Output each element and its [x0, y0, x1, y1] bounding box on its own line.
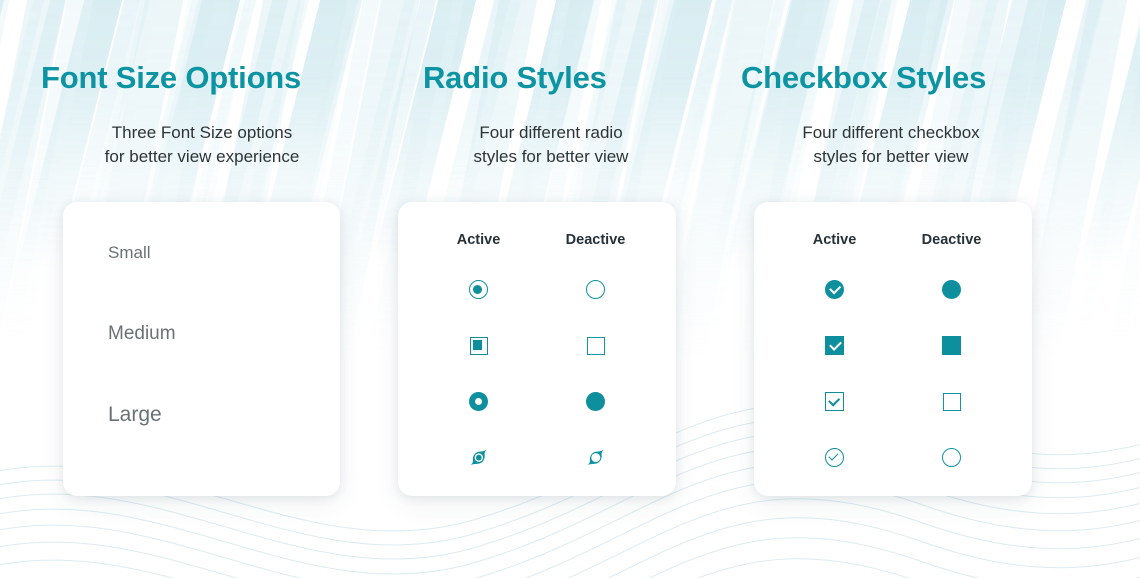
column-header-active: Active	[776, 232, 893, 248]
column-subtitle-radio: Four different radio styles for better v…	[406, 121, 696, 170]
check-square-filled-icon[interactable]	[825, 336, 844, 355]
radio-style-row	[398, 374, 676, 430]
radio-cell-active[interactable]	[420, 447, 537, 469]
radio-ring-empty-icon[interactable]	[586, 280, 605, 299]
radio-cell-deactive[interactable]	[537, 337, 654, 355]
checkbox-style-row	[754, 430, 1032, 486]
radio-square-empty-icon[interactable]	[587, 337, 605, 355]
font-size-option-medium[interactable]: Medium	[108, 324, 340, 404]
subtitle-line-1: Four different radio	[479, 123, 622, 142]
radio-ring-dot-icon[interactable]	[469, 280, 488, 299]
radio-dot-solid-icon[interactable]	[586, 392, 605, 411]
font-size-options-card: Small Medium Large	[63, 202, 340, 496]
checkbox-style-row	[754, 318, 1032, 374]
checkbox-grid-header: Active Deactive	[754, 232, 1032, 248]
check-square-outline-icon[interactable]	[825, 392, 844, 411]
subtitle-line-2: for better view experience	[105, 147, 300, 166]
page-title-checkbox-styles: Checkbox Styles	[736, 62, 1082, 95]
square-outline-icon[interactable]	[943, 393, 961, 411]
column-header-active: Active	[420, 232, 537, 248]
checkbox-style-row	[754, 374, 1032, 430]
checkbox-cell-active[interactable]	[776, 336, 893, 355]
font-size-option-small[interactable]: Small	[108, 244, 340, 324]
check-circle-filled-icon[interactable]	[825, 280, 844, 299]
radio-leaf-ring-filled-icon[interactable]	[468, 447, 490, 469]
subtitle-line-1: Three Font Size options	[112, 123, 292, 142]
checkbox-cell-active[interactable]	[776, 392, 893, 411]
column-font-size-options: Font Size Options Three Font Size option…	[28, 0, 396, 578]
radio-style-row	[398, 430, 676, 486]
circle-solid-icon[interactable]	[942, 280, 961, 299]
checkbox-styles-card: Active Deactive	[754, 202, 1032, 496]
column-header-deactive: Deactive	[893, 232, 1010, 248]
circle-outline-icon[interactable]	[942, 448, 961, 467]
radio-cell-deactive[interactable]	[537, 447, 654, 469]
radio-cell-active[interactable]	[420, 280, 537, 299]
checkbox-style-row	[754, 262, 1032, 318]
radio-leaf-ring-empty-icon[interactable]	[585, 447, 607, 469]
radio-style-row	[398, 318, 676, 374]
checkbox-cell-deactive[interactable]	[893, 393, 1010, 411]
checkbox-cell-deactive[interactable]	[893, 448, 1010, 467]
column-header-deactive: Deactive	[537, 232, 654, 248]
page-title-radio-styles: Radio Styles	[396, 62, 736, 95]
radio-cell-active[interactable]	[420, 392, 537, 411]
column-radio-styles: Radio Styles Four different radio styles…	[396, 0, 736, 578]
column-subtitle-checkbox: Four different checkbox styles for bette…	[741, 121, 1041, 170]
column-checkbox-styles: Checkbox Styles Four different checkbox …	[736, 0, 1082, 578]
checkbox-cell-deactive[interactable]	[893, 336, 1010, 355]
radio-styles-card: Active Deactive	[398, 202, 676, 496]
subtitle-line-1: Four different checkbox	[802, 123, 979, 142]
radio-cell-deactive[interactable]	[537, 392, 654, 411]
font-size-option-large[interactable]: Large	[108, 404, 340, 484]
radio-cell-deactive[interactable]	[537, 280, 654, 299]
radio-cell-active[interactable]	[420, 337, 537, 355]
radio-grid-header: Active Deactive	[398, 232, 676, 248]
column-subtitle-font-size: Three Font Size options for better view …	[37, 121, 367, 170]
page-title-font-size-options: Font Size Options	[28, 62, 396, 95]
square-solid-icon[interactable]	[942, 336, 961, 355]
checkbox-cell-active[interactable]	[776, 280, 893, 299]
check-circle-outline-icon[interactable]	[825, 448, 844, 467]
ui-styles-showcase: Font Size Options Three Font Size option…	[0, 0, 1140, 578]
radio-style-row	[398, 262, 676, 318]
subtitle-line-2: styles for better view	[814, 147, 969, 166]
radio-donut-icon[interactable]	[469, 392, 488, 411]
checkbox-cell-deactive[interactable]	[893, 280, 1010, 299]
radio-square-filled-icon[interactable]	[470, 337, 488, 355]
subtitle-line-2: styles for better view	[474, 147, 629, 166]
checkbox-cell-active[interactable]	[776, 448, 893, 467]
